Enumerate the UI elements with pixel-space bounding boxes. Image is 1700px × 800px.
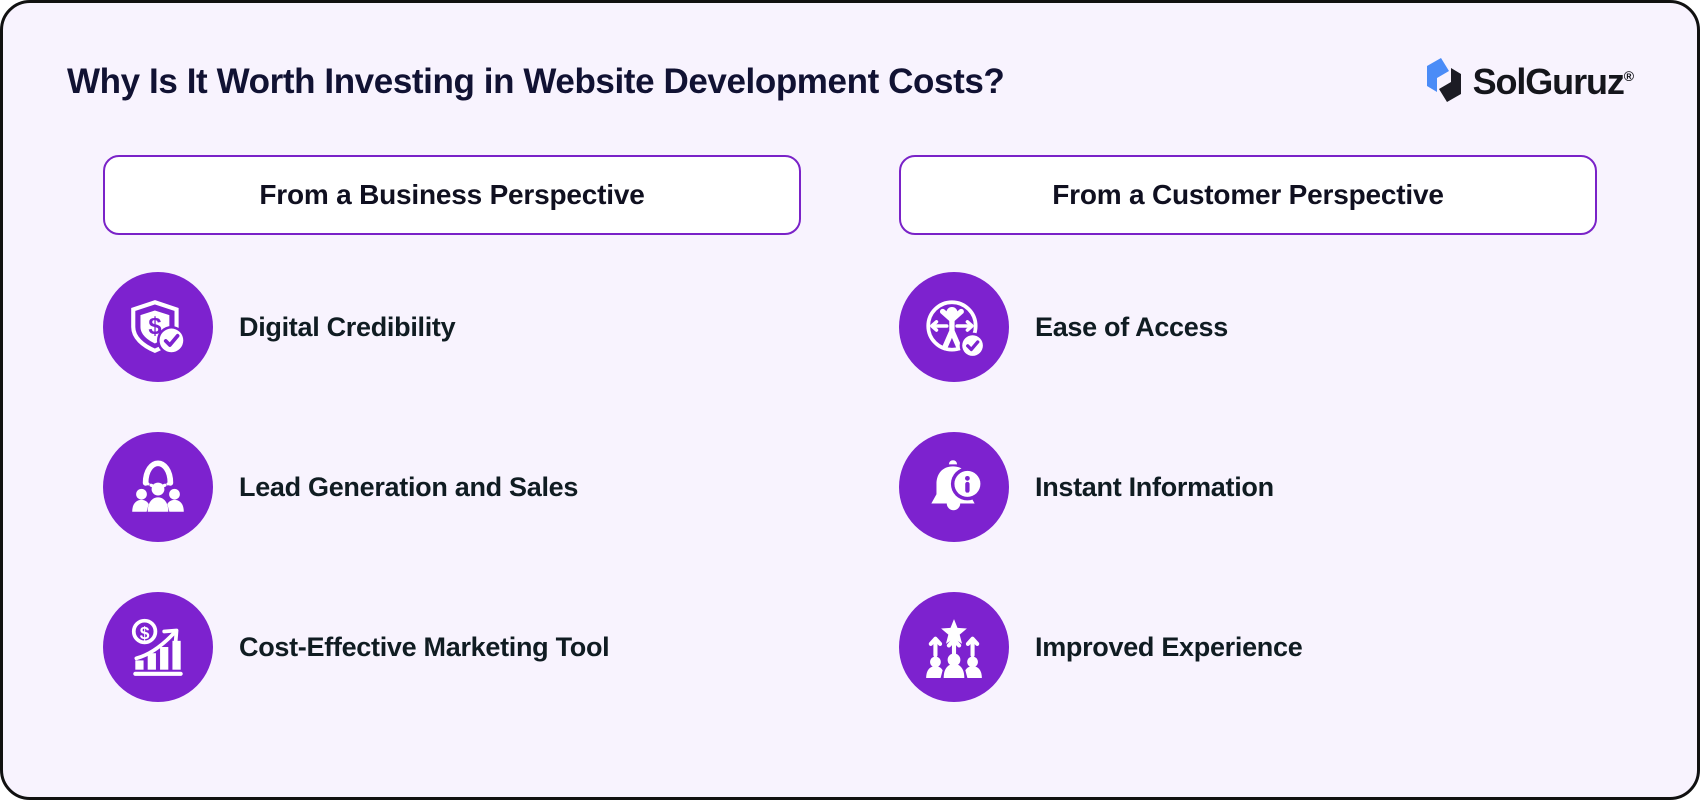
infographic-poster: Why Is It Worth Investing in Website Dev… [0, 0, 1700, 800]
brand-name: SolGuruz® [1473, 64, 1633, 100]
brand-trademark: ® [1624, 68, 1633, 84]
accessibility-person-check-icon [899, 272, 1009, 382]
people-funnel-magnet-icon [103, 432, 213, 542]
column-header-label: From a Customer Perspective [1052, 179, 1443, 211]
brand-logo: SolGuruz® [1417, 52, 1633, 113]
column-header-customer: From a Customer Perspective [899, 155, 1597, 235]
list-item: Lead Generation and Sales [103, 431, 801, 543]
people-star-arrows-up-icon [899, 592, 1009, 702]
columns-container: From a Business Perspective $ [3, 155, 1697, 703]
column-business: From a Business Perspective $ [103, 155, 801, 703]
list-item: $ Digital Credibility [103, 271, 801, 383]
column-customer: From a Customer Perspective [899, 155, 1597, 703]
list-item-label: Cost-Effective Marketing Tool [239, 632, 609, 663]
list-item-label: Ease of Access [1035, 312, 1228, 343]
list-item-label: Instant Information [1035, 472, 1274, 503]
list-item: $ Cost-Effective Marketing Tool [103, 591, 801, 703]
shield-dollar-check-icon: $ [103, 272, 213, 382]
list-item-label: Improved Experience [1035, 632, 1302, 663]
list-item: Instant Information [899, 431, 1597, 543]
solguruz-hexagon-logo-icon [1417, 52, 1469, 113]
items-list-business: $ Digital Credibility [103, 271, 801, 703]
column-header-business: From a Business Perspective [103, 155, 801, 235]
column-header-label: From a Business Perspective [259, 179, 644, 211]
page-title: Why Is It Worth Investing in Website Dev… [67, 62, 1004, 102]
list-item-label: Digital Credibility [239, 312, 455, 343]
svg-text:$: $ [140, 623, 150, 643]
dollar-growth-bar-chart-icon: $ [103, 592, 213, 702]
items-list-customer: Ease of Access [899, 271, 1597, 703]
bell-info-icon [899, 432, 1009, 542]
list-item: Improved Experience [899, 591, 1597, 703]
poster-header: Why Is It Worth Investing in Website Dev… [3, 47, 1697, 117]
brand-name-text: SolGuruz [1473, 61, 1624, 102]
list-item: Ease of Access [899, 271, 1597, 383]
list-item-label: Lead Generation and Sales [239, 472, 578, 503]
